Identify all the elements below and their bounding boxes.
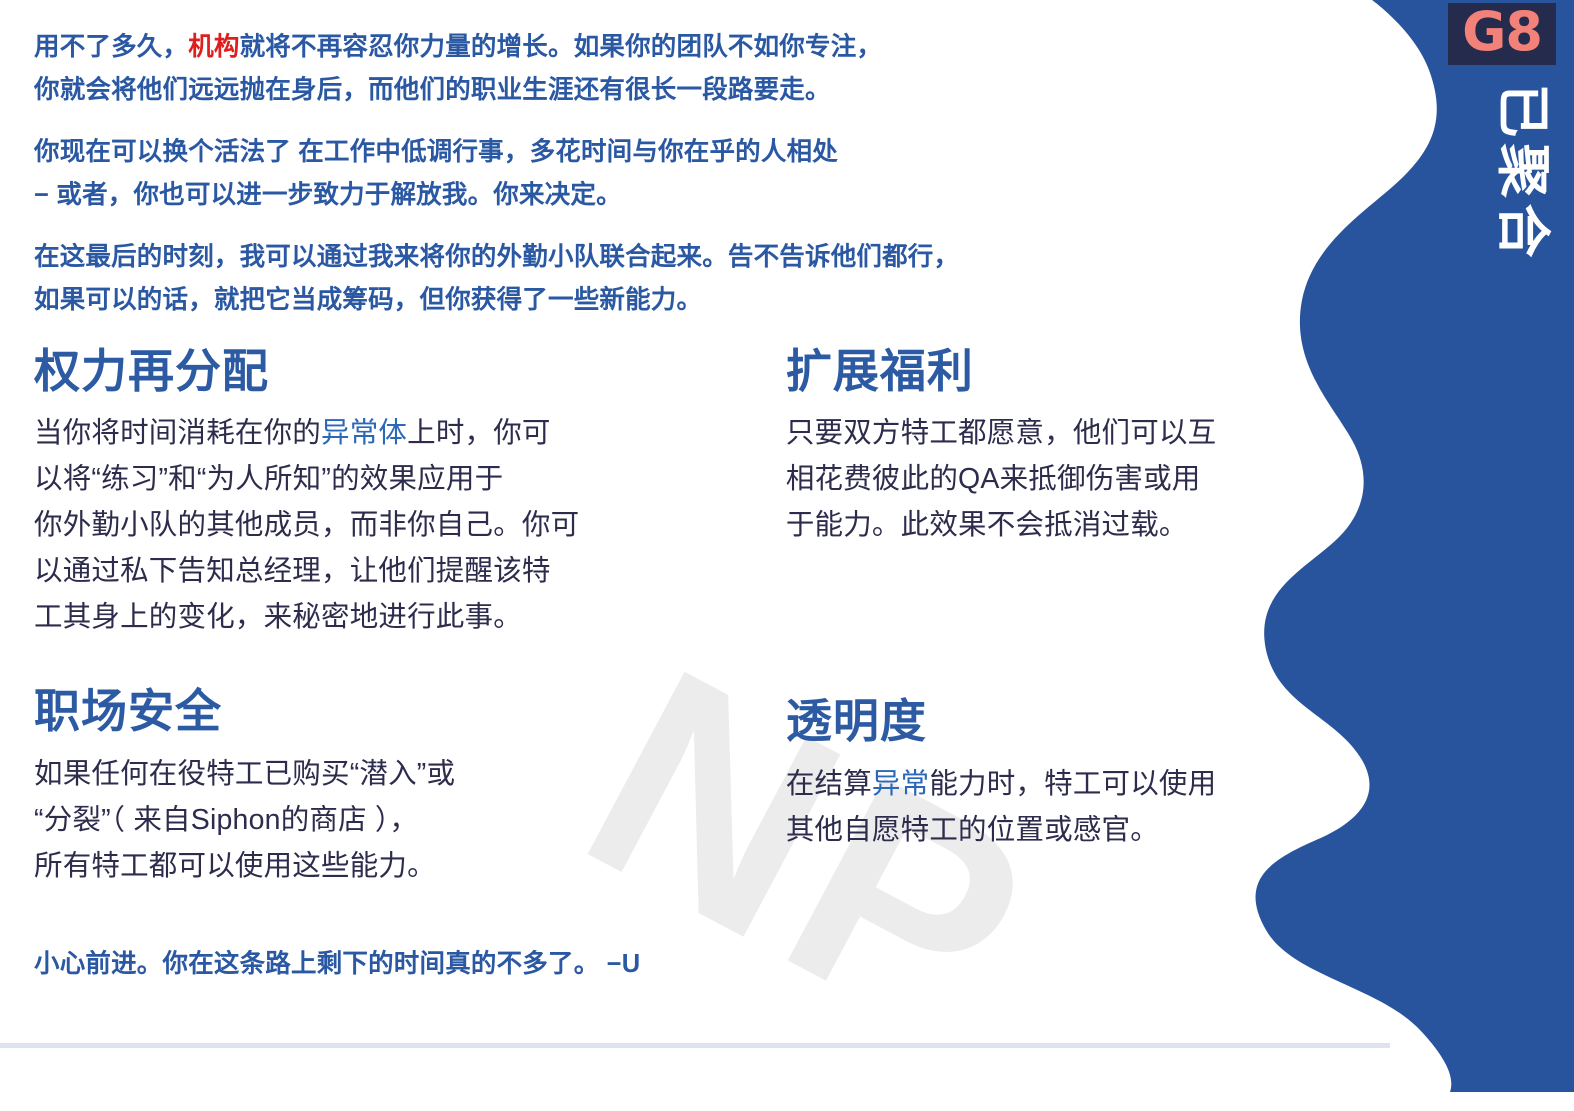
body-highlight-anomaly: 异常 <box>872 768 929 800</box>
section-transparency: 透明度 在结算异常能力时，特工可以使用 其他自愿特工的位置或感官。 <box>786 694 1320 852</box>
section-body-power-redistribution: 当你将时间消耗在你的异常体上时，你可 以将“练习”和“为人所知”的效果应用于 你… <box>34 410 786 640</box>
body-pre: 当你将时间消耗在你的 <box>34 417 321 449</box>
sections-columns: 权力再分配 当你将时间消耗在你的异常体上时，你可 以将“练习”和“为人所知”的效… <box>34 344 1320 903</box>
section-workplace-safety: 职场安全 如果任何在役特工已购买“潜入”或 “分裂”（ 来自Siphon的商店 … <box>34 684 786 888</box>
page-content: 用不了多久，机构就将不再容忍你力量的增长。如果你的团队不如你专注， 你就会将他们… <box>0 0 1320 980</box>
section-title-extended-benefits: 扩展福利 <box>786 344 1320 398</box>
section-body-workplace-safety: 如果任何在役特工已购买“潜入”或 “分裂”（ 来自Siphon的商店 ）， 所有… <box>34 751 786 889</box>
left-column: 权力再分配 当你将时间消耗在你的异常体上时，你可 以将“练习”和“为人所知”的效… <box>34 344 786 903</box>
g8-badge-label: G8 <box>1462 5 1542 59</box>
bottom-divider <box>0 1043 1390 1048</box>
section-title-workplace-safety: 职场安全 <box>34 684 786 738</box>
intro-block: 用不了多久，机构就将不再容忍你力量的增长。如果你的团队不如你专注， 你就会将他们… <box>34 26 1320 322</box>
left-column-spacer <box>34 654 786 684</box>
intro-paragraph-1: 用不了多久，机构就将不再容忍你力量的增长。如果你的团队不如你专注， 你就会将他们… <box>34 26 1320 112</box>
section-extended-benefits: 扩展福利 只要双方特工都愿意，他们可以互 相花费彼此的QA来抵御伤害或用 于能力… <box>786 344 1320 548</box>
body-highlight-anomaly: 异常体 <box>321 417 407 449</box>
vertical-label: 已聚合 <box>1490 88 1554 143</box>
section-body-extended-benefits: 只要双方特工都愿意，他们可以互 相花费彼此的QA来抵御伤害或用 于能力。此效果不… <box>786 410 1320 548</box>
page-root: { "badge": { "label": "G8" }, "vertical_… <box>0 0 1574 1092</box>
body-pre: 在结算 <box>786 768 872 800</box>
intro-paragraph-3: 在这最后的时刻，我可以通过我来将你的外勤小队联合起来。告不告诉他们都行， 如果可… <box>34 236 1320 322</box>
right-column-spacer <box>786 562 1320 694</box>
section-body-transparency: 在结算异常能力时，特工可以使用 其他自愿特工的位置或感官。 <box>786 761 1320 853</box>
right-column: 扩展福利 只要双方特工都愿意，他们可以互 相花费彼此的QA来抵御伤害或用 于能力… <box>786 344 1320 903</box>
body-post: 上时，你可 以将“练习”和“为人所知”的效果应用于 你外勤小队的其他成员，而非你… <box>34 417 579 633</box>
section-title-transparency: 透明度 <box>786 694 1320 748</box>
footnote: 小心前进。你在这条路上剩下的时间真的不多了。 −U <box>34 943 1320 980</box>
intro-p1-highlight: 机构 <box>188 33 239 61</box>
vertical-label-text: 已聚合 <box>1494 84 1549 148</box>
g8-badge: G8 <box>1448 3 1556 65</box>
intro-p1-pre: 用不了多久， <box>34 33 188 61</box>
section-title-power-redistribution: 权力再分配 <box>34 344 786 398</box>
intro-paragraph-2: 你现在可以换个活法了 在工作中低调行事，多花时间与你在乎的人相处 − 或者，你也… <box>34 131 1320 217</box>
section-power-redistribution: 权力再分配 当你将时间消耗在你的异常体上时，你可 以将“练习”和“为人所知”的效… <box>34 344 786 640</box>
